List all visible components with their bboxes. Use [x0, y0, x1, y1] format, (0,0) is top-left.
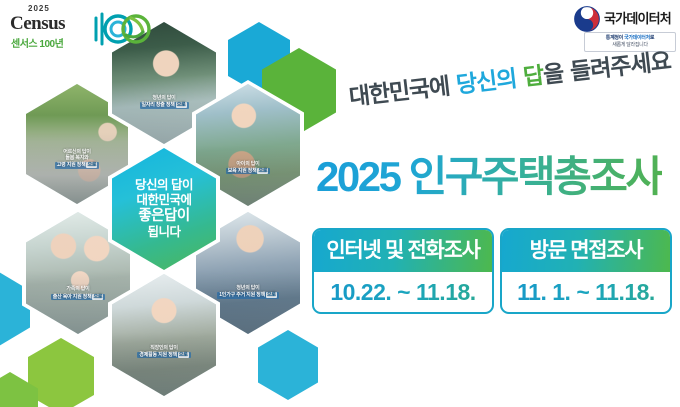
- caption-line-2: 돌봄 복지와: [30, 155, 124, 161]
- census-promo-banner: 어르신의 답이 돌봄 복지와 고령 지원 정책으로 청년의 답이 일자리 창출 …: [0, 0, 680, 407]
- photo-caption-youngman: 청년의 답이 1인가구 주거 지원 정책으로: [200, 285, 296, 299]
- badge-line-1: 통계청이 국가데이터처로: [586, 35, 674, 42]
- photo-caption-elderly: 어르신의 답이 돌봄 복지와 고령 지원 정책으로: [30, 149, 124, 169]
- headline-part-2: 당신의: [455, 65, 525, 98]
- agency-name-text: 국가데이터처: [604, 8, 671, 27]
- caption-line-1: 가족의 답이: [30, 286, 126, 292]
- caption-tail: 으로: [266, 292, 277, 298]
- survey-dates-visit: 11. 1. ~ 11.18.: [502, 272, 670, 312]
- census-100-logo: 2025 Census 센서스 100년: [6, 2, 152, 54]
- caption-tail: 으로: [86, 162, 97, 168]
- photo-caption-woman: 청년의 답이 일자리 창출 정책으로: [116, 95, 212, 109]
- slogan-line-1: 당신의 답이: [135, 178, 193, 193]
- caption-line-1: 청년의 답이: [200, 285, 296, 291]
- survey-title-visit: 방문 면접조사: [502, 230, 670, 272]
- photo-caption-family: 가족의 답이 출산 육아 지원 정책으로: [30, 286, 126, 300]
- logo-year-text: 2025: [28, 4, 50, 13]
- caption-policy-text: 1인가구 주거 지원 정책: [219, 292, 265, 298]
- photo-caption-father: 아이의 답이 보육 지원 정책으로: [200, 161, 296, 175]
- caption-policy-text: 고령 지원 정책: [57, 162, 86, 168]
- headline-script: 대한민국에 당신의 답을 들려주세요: [347, 44, 651, 133]
- internet-phone-survey-box: 인터넷 및 전화조사 10.22. ~ 11.18.: [312, 228, 494, 314]
- caption-line-2: 출산 육아 지원 정책으로: [51, 294, 106, 300]
- badge-prefix: 통계청: [606, 35, 619, 41]
- survey-title-internet: 인터넷 및 전화조사: [314, 230, 492, 272]
- caption-line-2: 보육 지원 정책으로: [226, 168, 271, 174]
- caption-line-2: 1인가구 주거 지원 정책으로: [217, 292, 279, 298]
- deco-hex-teal-bottom-mid: [258, 330, 318, 400]
- headline-part-4: 을 들려주세요: [542, 49, 672, 89]
- caption-line-1: 직장인의 답이: [116, 345, 212, 351]
- caption-policy-text: 보육 지원 정책: [228, 168, 257, 174]
- caption-tail: 으로: [176, 102, 187, 108]
- slogan-line-2: 대한민국에: [136, 193, 191, 208]
- page-title: 2025 인구주택총조사: [316, 143, 662, 204]
- caption-policy-text: 경제활동 지원 정책: [139, 352, 177, 358]
- caption-tail: 으로: [257, 168, 268, 174]
- survey-dates-internet: 10.22. ~ 11.18.: [314, 272, 492, 312]
- slogan-line-3: 좋은답이: [138, 208, 189, 225]
- taegeuk-emblem-icon: [574, 6, 600, 32]
- caption-policy-text: 출산 육아 지원 정책: [53, 294, 92, 300]
- visit-interview-survey-box: 방문 면접조사 11. 1. ~ 11.18.: [500, 228, 672, 314]
- caption-line-3: 고령 지원 정책으로: [55, 162, 100, 168]
- caption-tail: 으로: [178, 352, 189, 358]
- logo-census-wordmark: Census: [10, 13, 65, 35]
- photo-caption-office: 직장인의 답이 경제활동 지원 정책으로: [116, 345, 212, 359]
- caption-line-2: 일자리 창출 정책으로: [140, 102, 189, 108]
- caption-line-2: 경제활동 지원 정책으로: [137, 352, 190, 358]
- caption-line-1: 청년의 답이: [116, 95, 212, 101]
- caption-tail: 으로: [92, 294, 103, 300]
- headline-part-1: 대한민국에: [348, 73, 458, 111]
- caption-line-1: 아이의 답이: [200, 161, 296, 167]
- logo-100-numeral-icon: [90, 8, 152, 48]
- badge-highlight: 국가데이터처: [624, 35, 650, 41]
- logo-korean-text: 센서스 100년: [11, 35, 63, 50]
- badge-suffix: 로: [650, 35, 654, 41]
- slogan-line-4: 됩니다: [147, 225, 180, 240]
- caption-policy-text: 일자리 창출 정책: [142, 102, 175, 108]
